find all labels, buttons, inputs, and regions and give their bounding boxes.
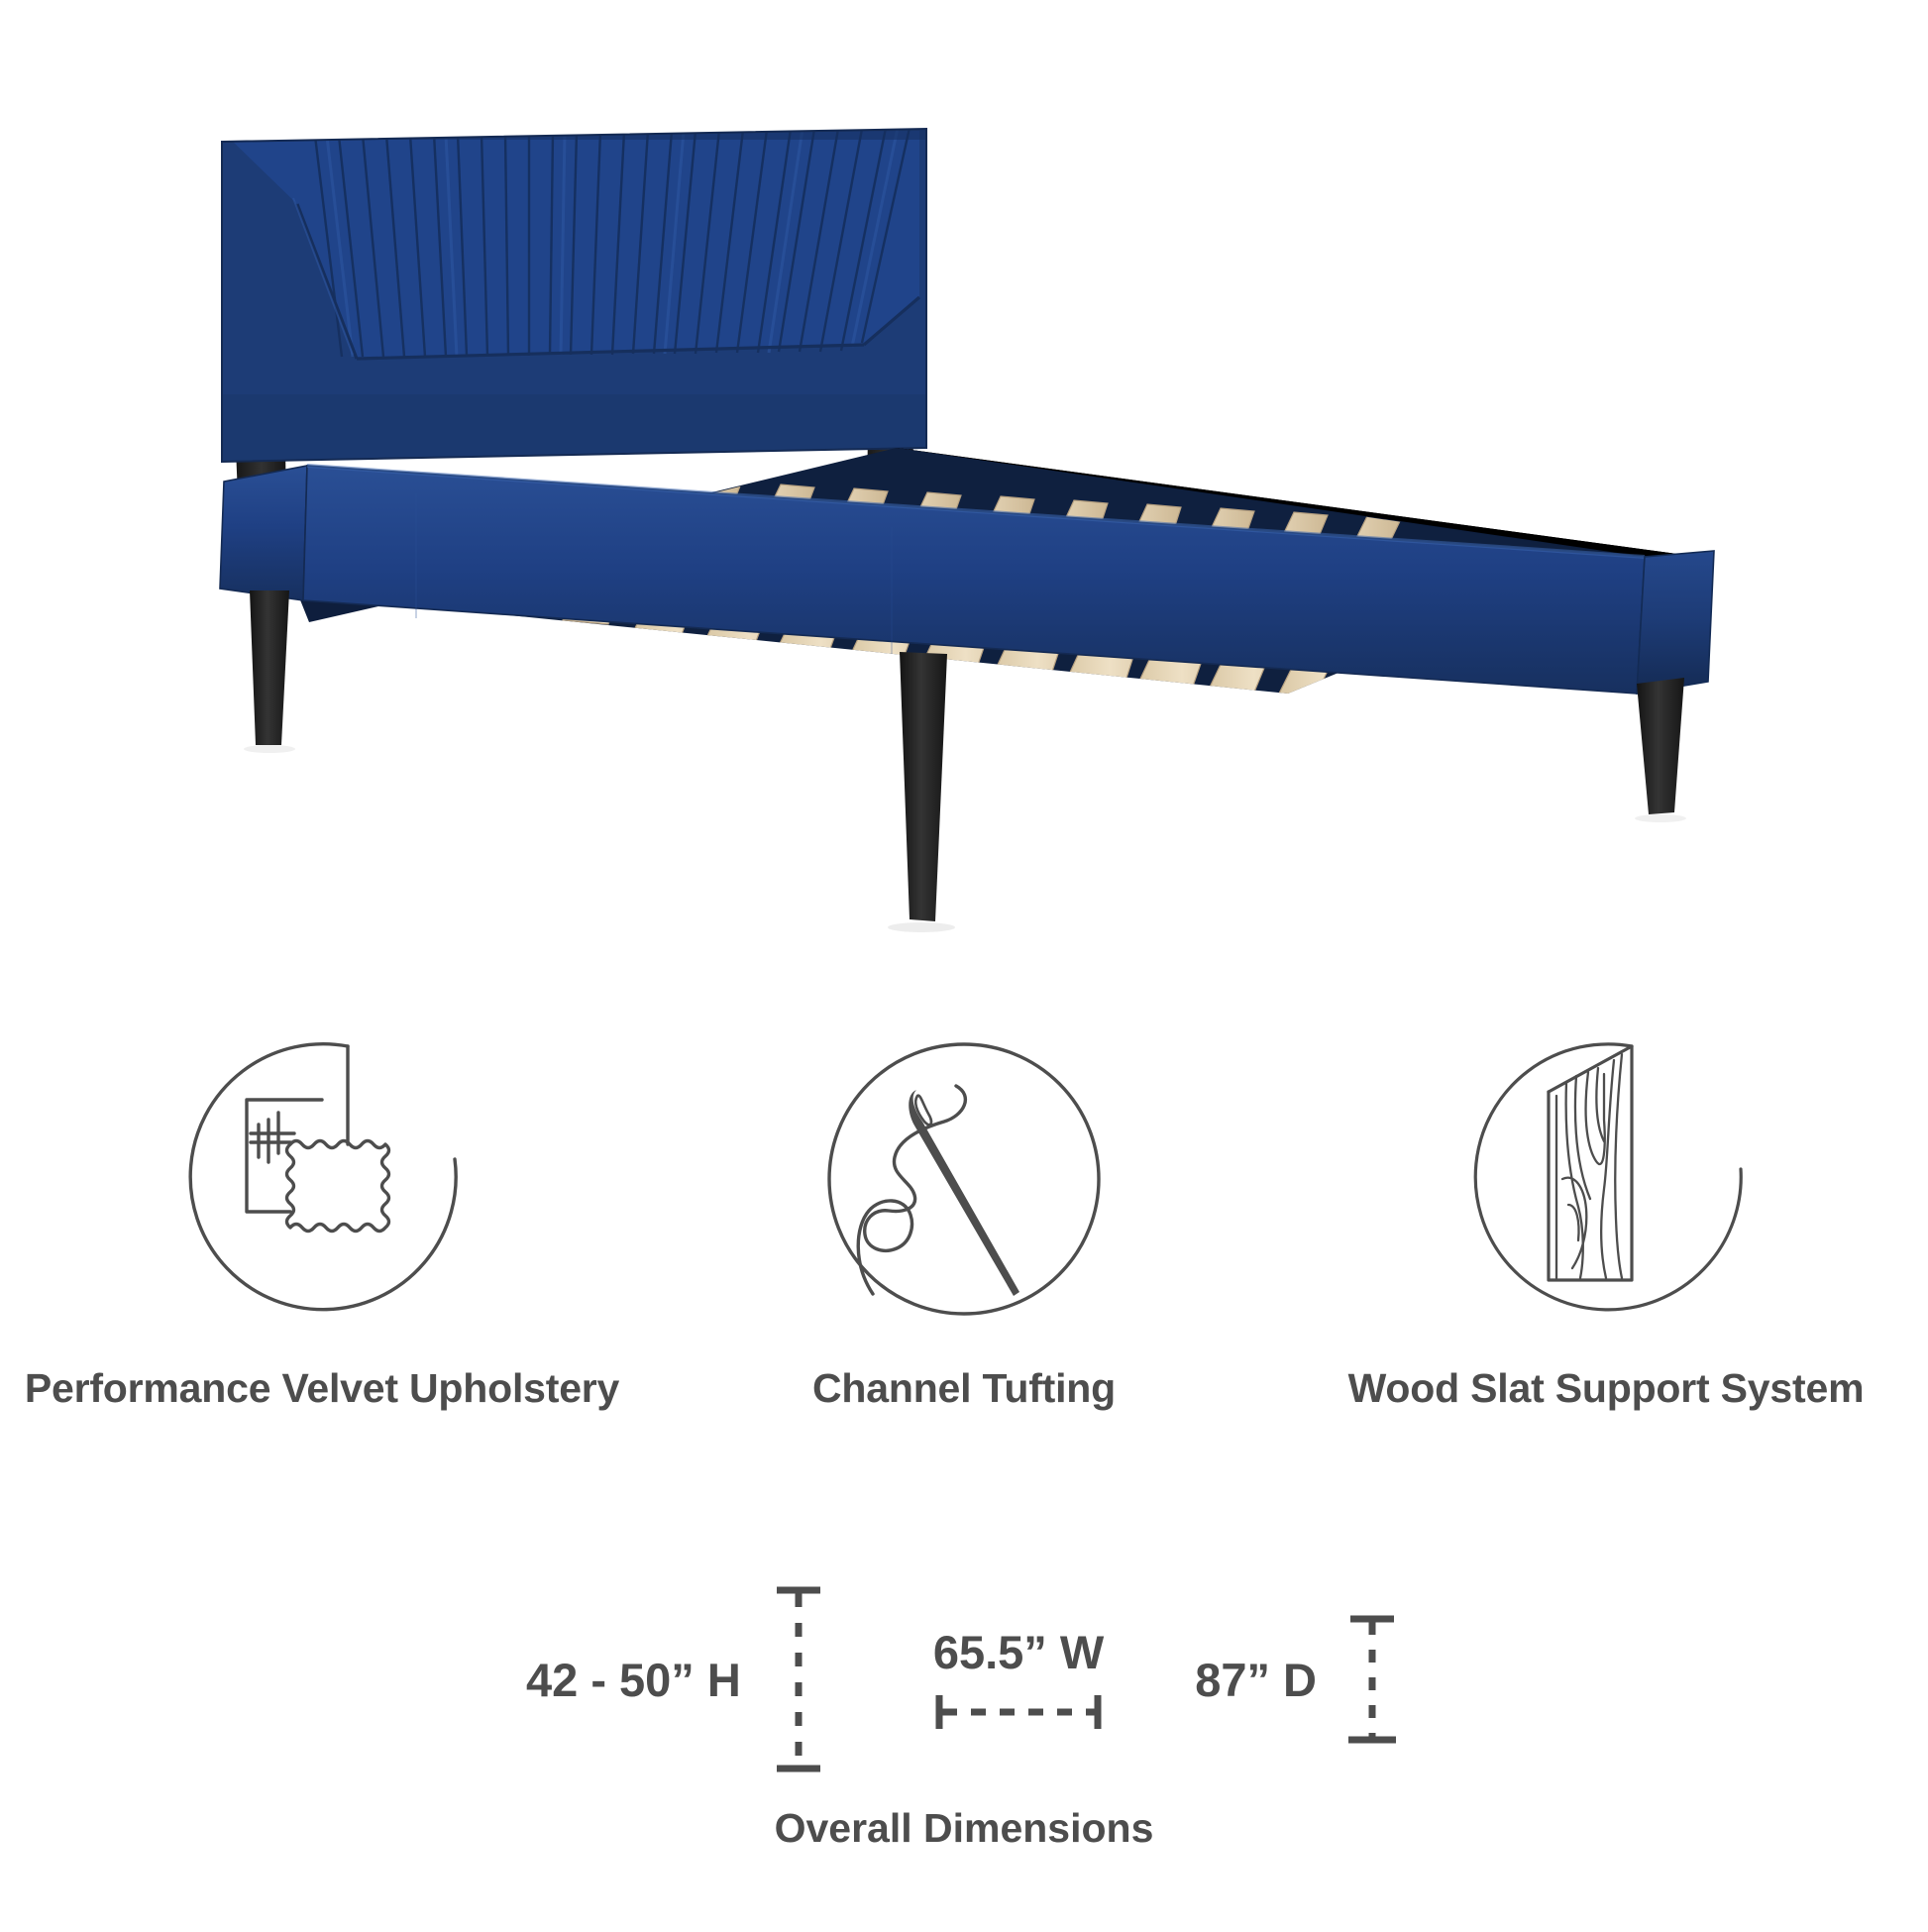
- right-end-rail: [1637, 551, 1714, 694]
- dimension-depth-label: 87” D: [1195, 1653, 1317, 1707]
- fabric-swatch-icon: [173, 1030, 471, 1328]
- leg-front-left: [250, 590, 289, 745]
- dimensions-row: 42 - 50” H 65.5” W: [0, 1546, 1928, 1813]
- dimension-depth-marker: [1342, 1614, 1402, 1745]
- feature-item-upholstery: Performance Velvet Upholstery: [1, 1030, 643, 1412]
- dimension-width-marker: [934, 1689, 1103, 1735]
- needle-thread-icon: [815, 1030, 1113, 1328]
- dimensions-section: 42 - 50” H 65.5” W: [0, 1546, 1928, 1932]
- bed-illustration: [0, 0, 1928, 1001]
- dimension-width: 65.5” W: [933, 1551, 1104, 1808]
- leg-front-right: [1637, 678, 1684, 814]
- feature-list: Performance Velvet Upholstery: [0, 1030, 1928, 1447]
- dimension-depth: 87” D: [1195, 1551, 1402, 1808]
- feature-label-upholstery: Performance Velvet Upholstery: [25, 1365, 619, 1412]
- feature-item-slats: Wood Slat Support System: [1285, 1030, 1927, 1412]
- dimension-width-label: 65.5” W: [933, 1625, 1104, 1679]
- dimension-height: 42 - 50” H: [526, 1551, 828, 1808]
- headboard: [222, 127, 930, 466]
- infographic-canvas: Performance Velvet Upholstery: [0, 0, 1928, 1928]
- product-hero-image: [0, 0, 1928, 1001]
- dimension-height-marker: [769, 1585, 828, 1773]
- dimension-height-label: 42 - 50” H: [526, 1653, 741, 1707]
- dimensions-caption: Overall Dimensions: [0, 1805, 1928, 1852]
- feature-label-slats: Wood Slat Support System: [1348, 1365, 1865, 1412]
- wood-grain-plank-icon: [1457, 1030, 1755, 1328]
- leg-front-center: [900, 652, 947, 921]
- feature-label-tufting: Channel Tufting: [812, 1365, 1116, 1412]
- feature-item-tufting: Channel Tufting: [643, 1030, 1285, 1412]
